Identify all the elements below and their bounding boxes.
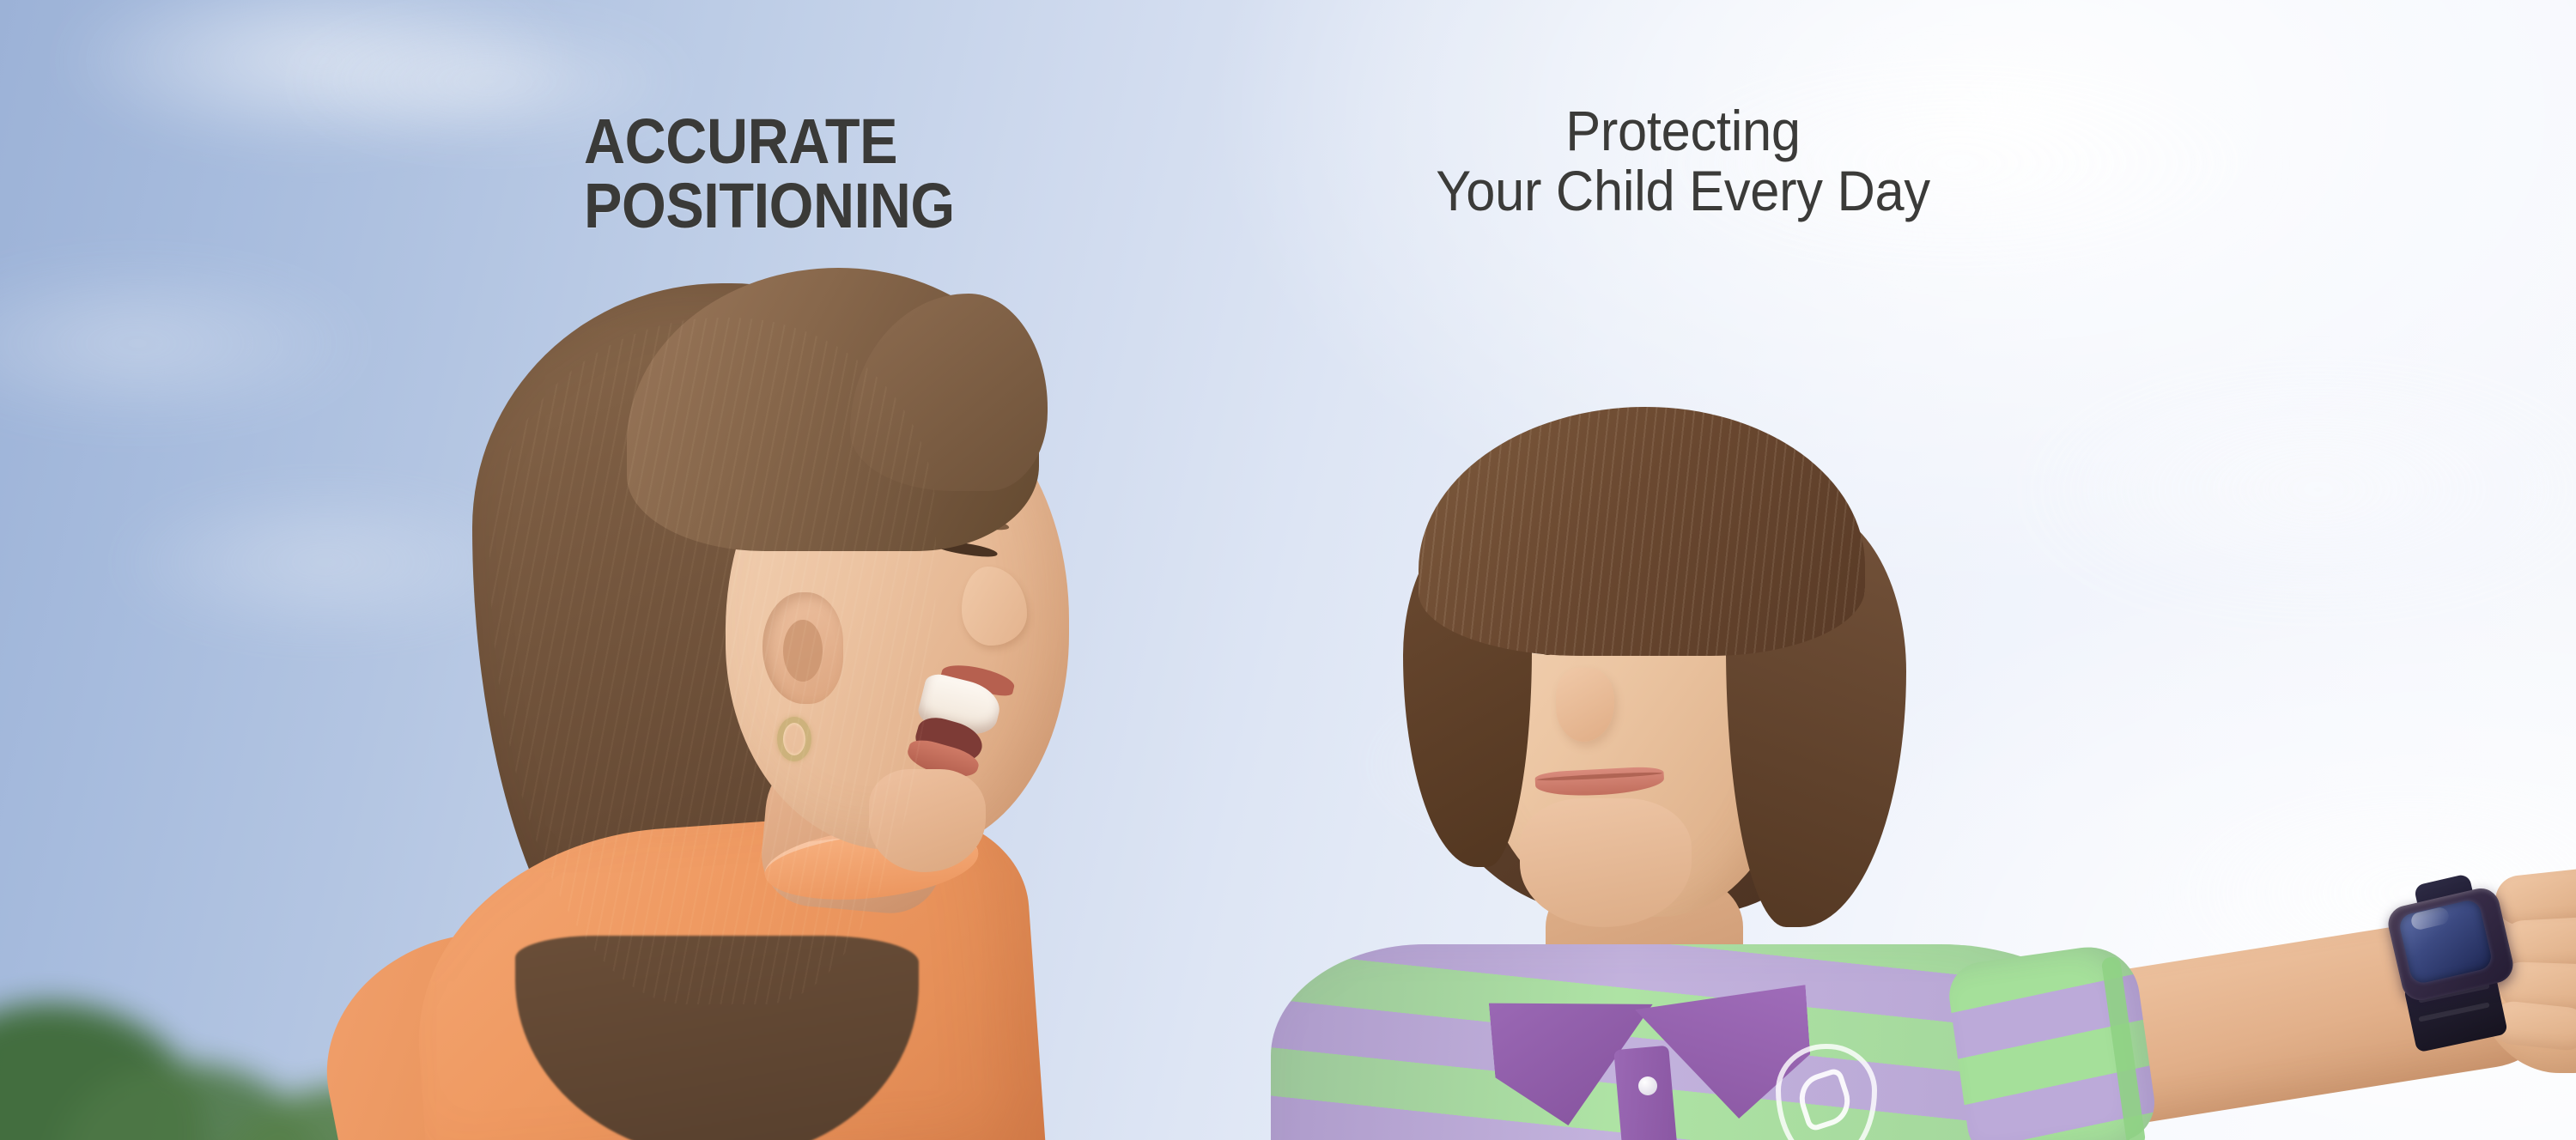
- boy-chin: [1520, 798, 1692, 927]
- people-layer: [0, 0, 2576, 1140]
- kids-smartwatch: [2396, 884, 2576, 1047]
- banner-subheadline: Protecting Your Child Every Day: [1380, 101, 1987, 221]
- subheadline-line-1: Protecting: [1380, 101, 1987, 161]
- subheadline-line-2: Your Child Every Day: [1380, 161, 1987, 221]
- smiling-boy: [1365, 395, 2576, 1140]
- promo-banner: ACCURATE POSITIONING Protecting Your Chi…: [0, 0, 2576, 1140]
- smiling-woman: [481, 283, 1133, 1140]
- boy-hair-fringe: [1419, 407, 1865, 656]
- shirt-button-icon: [1638, 1076, 1657, 1095]
- crest-logo-leaf: [1788, 1126, 1860, 1140]
- headline-line-1: ACCURATE: [584, 110, 955, 174]
- headline-line-2: POSITIONING: [584, 174, 955, 239]
- banner-headline: ACCURATE POSITIONING: [584, 110, 955, 238]
